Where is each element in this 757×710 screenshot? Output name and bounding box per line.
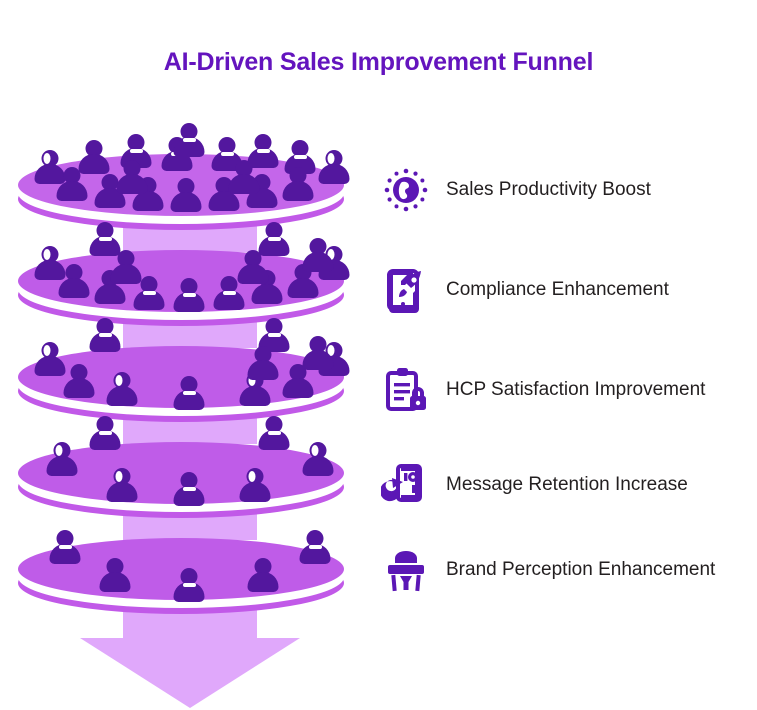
legend-item-hcp-satisfaction-improvement[interactable]: HCP Satisfaction Improvement <box>378 360 757 420</box>
podium-speaker-icon <box>378 542 434 598</box>
legend-item-label: Compliance Enhancement <box>446 279 669 301</box>
refresh-document-icon <box>378 457 434 513</box>
legend-item-message-retention-increase[interactable]: Message Retention Increase <box>378 455 757 515</box>
legend-item-compliance-enhancement[interactable]: Compliance Enhancement <box>378 260 757 320</box>
legend-item-label: HCP Satisfaction Improvement <box>446 379 705 401</box>
legend-item-label: Message Retention Increase <box>446 474 688 496</box>
legend-item-label: Brand Perception Enhancement <box>446 559 715 581</box>
legend-item-brand-perception-enhancement[interactable]: Brand Perception Enhancement <box>378 540 757 600</box>
funnel-diagram <box>0 110 380 710</box>
legend-item-label: Sales Productivity Boost <box>446 179 651 201</box>
page-title: AI-Driven Sales Improvement Funnel <box>0 48 757 77</box>
globe-dotted-icon <box>378 162 434 218</box>
clipboard-lock-icon <box>378 362 434 418</box>
legend-item-sales-productivity-boost[interactable]: Sales Productivity Boost <box>378 160 757 220</box>
funnel-tier-5 <box>0 516 380 636</box>
mobile-rocket-icon <box>378 262 434 318</box>
tier-5-people <box>0 516 380 636</box>
